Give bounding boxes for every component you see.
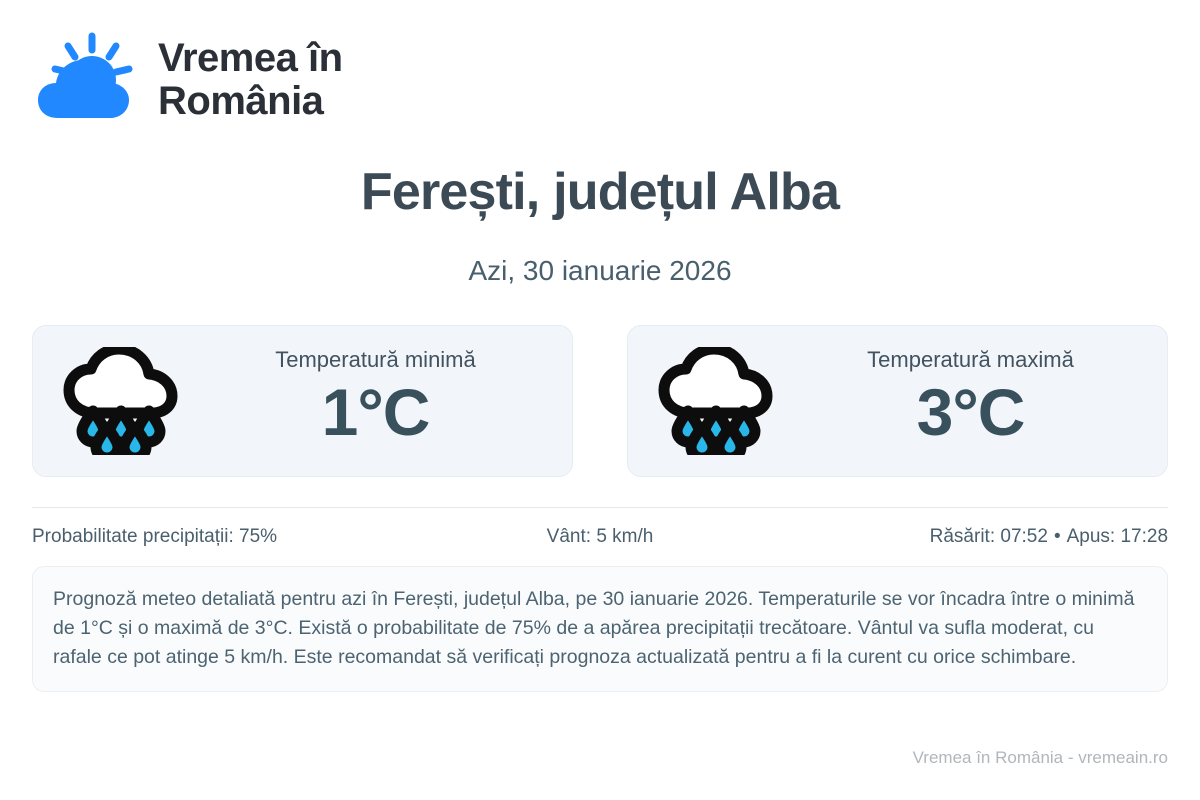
forecast-description: Prognoză meteo detaliată pentru azi în F… xyxy=(32,566,1168,693)
page-subtitle: Azi, 30 ianuarie 2026 xyxy=(32,256,1168,287)
sunset-value: Apus: 17:28 xyxy=(1067,526,1168,547)
min-temperature-value: 1°C xyxy=(322,375,430,451)
min-temperature-card: Temperatură minimă 1°C xyxy=(32,325,573,477)
stats-row: Probabilitate precipitații: 75% Vânt: 5 … xyxy=(32,526,1168,548)
weather-page: Vremea în România Ferești, județul Alba … xyxy=(0,0,1200,800)
cloud-with-rain-icon xyxy=(59,347,183,455)
site-footer[interactable]: Vremea în România - vremeain.ro xyxy=(913,748,1168,768)
wind-stat: Vânt: 5 km/h xyxy=(411,526,790,548)
precipitation-stat: Probabilitate precipitații: 75% xyxy=(32,526,411,548)
cloud-with-rain-icon xyxy=(654,347,778,455)
max-temperature-label: Temperatură maximă xyxy=(867,347,1074,373)
stats-divider xyxy=(32,507,1168,508)
max-temperature-body: Temperatură maximă 3°C xyxy=(796,347,1145,455)
page-title: Ferești, județul Alba xyxy=(32,164,1168,221)
site-header: Vremea în România xyxy=(32,0,1168,112)
min-temperature-body: Temperatură minimă 1°C xyxy=(201,347,550,455)
sun-times-separator: • xyxy=(1048,526,1067,547)
sun-behind-cloud-icon xyxy=(32,32,136,128)
temperature-cards: Temperatură minimă 1°C Temperatură maxim… xyxy=(32,325,1168,477)
sun-times-stat: Răsărit: 07:52•Apus: 17:28 xyxy=(789,526,1168,548)
max-temperature-value: 3°C xyxy=(917,375,1025,451)
min-temperature-label: Temperatură minimă xyxy=(275,347,476,373)
max-temperature-card: Temperatură maximă 3°C xyxy=(627,325,1168,477)
sunrise-value: Răsărit: 07:52 xyxy=(930,526,1048,547)
brand-name[interactable]: Vremea în România xyxy=(158,37,343,123)
